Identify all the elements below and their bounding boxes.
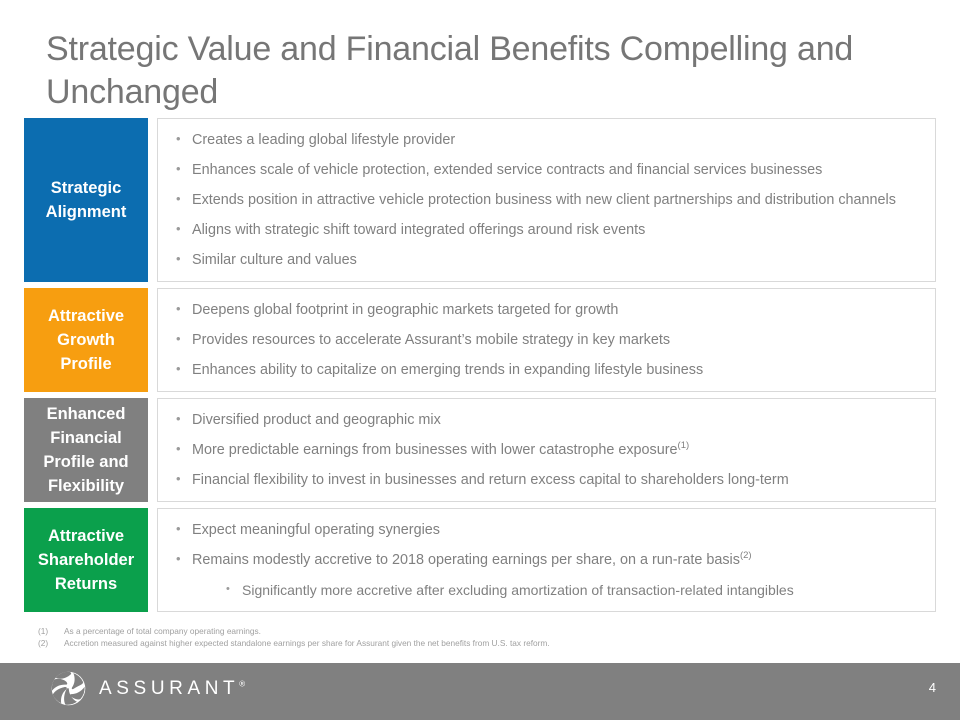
assurant-pinwheel-icon [51, 671, 86, 706]
bullet-text: Significantly more accretive after exclu… [242, 582, 794, 598]
row-content: Diversified product and geographic mixMo… [157, 398, 936, 502]
bullet-text: Enhances ability to capitalize on emergi… [192, 362, 703, 378]
footnote-ref: (1) [678, 440, 690, 451]
sub-bullet-item: Significantly more accretive after exclu… [170, 575, 921, 605]
bullet-item: More predictable earnings from businesse… [170, 435, 921, 465]
bullet-item: Diversified product and geographic mix [170, 405, 921, 435]
bullet-text: Deepens global footprint in geographic m… [192, 302, 618, 318]
wordmark-text: ASSURANT [99, 678, 239, 699]
bullet-item: Aligns with strategic shift toward integ… [170, 215, 921, 245]
bullet-text: Expect meaningful operating synergies [192, 522, 440, 538]
footnote-marker: (1) [38, 626, 64, 638]
benefit-rows: Strategic AlignmentCreates a leading glo… [24, 118, 936, 618]
benefit-row: Enhanced Financial Profile and Flexibili… [24, 398, 936, 502]
bullet-text: More predictable earnings from businesse… [192, 442, 678, 458]
footnote-marker: (2) [38, 638, 64, 650]
row-content: Expect meaningful operating synergiesRem… [157, 508, 936, 612]
bullet-text: Diversified product and geographic mix [192, 412, 441, 428]
bullet-item: Enhances ability to capitalize on emergi… [170, 355, 921, 385]
footnote-text: As a percentage of total company operati… [64, 626, 261, 638]
bullet-item: Provides resources to accelerate Assuran… [170, 325, 921, 355]
bullet-text: Creates a leading global lifestyle provi… [192, 132, 455, 148]
page-title: Strategic Value and Financial Benefits C… [46, 28, 886, 114]
assurant-logo: ASSURANT® [51, 671, 245, 706]
benefit-row: Attractive Growth ProfileDeepens global … [24, 288, 936, 392]
footnote-ref: (2) [740, 550, 752, 561]
footnote-item: (2)Accretion measured against higher exp… [38, 638, 898, 650]
footnotes: (1)As a percentage of total company oper… [38, 626, 898, 649]
row-content: Deepens global footprint in geographic m… [157, 288, 936, 392]
page-number: 4 [929, 680, 936, 695]
assurant-wordmark: ASSURANT® [99, 678, 245, 700]
row-content: Creates a leading global lifestyle provi… [157, 118, 936, 282]
benefit-row: Strategic AlignmentCreates a leading glo… [24, 118, 936, 282]
bullet-text: Enhances scale of vehicle protection, ex… [192, 162, 822, 178]
bullet-text: Remains modestly accretive to 2018 opera… [192, 552, 740, 568]
bullet-item: Deepens global footprint in geographic m… [170, 295, 921, 325]
bullet-text: Similar culture and values [192, 252, 357, 268]
bullet-text: Financial flexibility to invest in busin… [192, 472, 789, 488]
bullet-item: Financial flexibility to invest in busin… [170, 465, 921, 495]
bullet-text: Aligns with strategic shift toward integ… [192, 222, 645, 238]
footnote-item: (1)As a percentage of total company oper… [38, 626, 898, 638]
row-label-3: Enhanced Financial Profile and Flexibili… [24, 398, 148, 502]
bullet-item: Similar culture and values [170, 245, 921, 275]
bullet-text: Provides resources to accelerate Assuran… [192, 332, 670, 348]
row-label-2: Attractive Growth Profile [24, 288, 148, 392]
bullet-text: Extends position in attractive vehicle p… [192, 192, 896, 208]
row-label-4: Attractive Shareholder Returns [24, 508, 148, 612]
bullet-item: Creates a leading global lifestyle provi… [170, 125, 921, 155]
bullet-item: Extends position in attractive vehicle p… [170, 185, 921, 215]
footnote-text: Accretion measured against higher expect… [64, 638, 550, 650]
bullet-item: Expect meaningful operating synergies [170, 515, 921, 545]
bullet-item: Remains modestly accretive to 2018 opera… [170, 545, 921, 575]
registered-mark: ® [239, 679, 245, 688]
row-label-1: Strategic Alignment [24, 118, 148, 282]
bullet-item: Enhances scale of vehicle protection, ex… [170, 155, 921, 185]
benefit-row: Attractive Shareholder ReturnsExpect mea… [24, 508, 936, 612]
